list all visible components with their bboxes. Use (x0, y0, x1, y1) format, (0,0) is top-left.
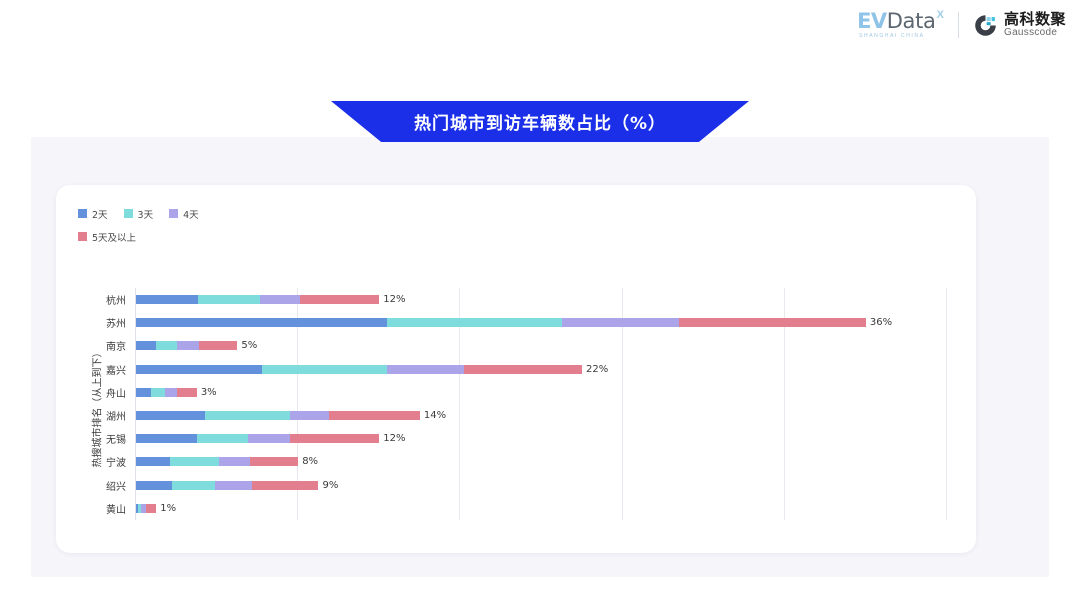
bar-segment[interactable] (387, 318, 561, 327)
bar-row[interactable]: 宁波8% (56, 450, 976, 473)
bar-segment[interactable] (136, 481, 172, 490)
evdata-tagline: SHANGHAI CHINA (859, 34, 924, 39)
bar-value-label: 36% (870, 317, 892, 328)
bar-value-label: 5% (241, 340, 257, 351)
bar-segment[interactable] (151, 388, 165, 397)
bar-row[interactable]: 嘉兴22% (56, 358, 976, 381)
bar-segment[interactable] (156, 341, 176, 350)
bar-segment[interactable] (387, 365, 464, 374)
y-axis-tick-label: 南京 (56, 338, 126, 353)
bar-segment[interactable] (290, 434, 379, 443)
legend-item-2[interactable]: 3天 (124, 207, 154, 220)
legend-swatch-icon (78, 232, 87, 241)
bar-segment[interactable] (290, 411, 329, 420)
stacked-bar[interactable] (136, 434, 379, 443)
bar-row[interactable]: 杭州12% (56, 288, 976, 311)
bar-segment[interactable] (252, 481, 319, 490)
stacked-bar[interactable] (136, 295, 379, 304)
y-axis-tick-label: 嘉兴 (56, 362, 126, 377)
legend-label: 4天 (183, 207, 199, 221)
bar-row[interactable]: 苏州36% (56, 311, 976, 334)
bar-row[interactable]: 舟山3% (56, 381, 976, 404)
page-header: EVDataX SHANGHAI CHINA 高科数聚 Gausscode (0, 0, 1080, 58)
evdata-wordmark: EVDataX (857, 11, 944, 32)
gausscode-en-label: Gausscode (1004, 28, 1066, 39)
gausscode-mark-icon (973, 13, 998, 38)
bar-row[interactable]: 黄山1% (56, 497, 976, 520)
bar-row[interactable]: 绍兴9% (56, 474, 976, 497)
legend-item-4[interactable]: 5天及以上 (78, 230, 136, 243)
bar-segment[interactable] (215, 481, 251, 490)
legend-item-3[interactable]: 4天 (169, 207, 199, 220)
bar-row[interactable]: 湖州14% (56, 404, 976, 427)
evdata-ev-text: EV (857, 11, 887, 32)
bar-segment[interactable] (136, 295, 198, 304)
legend-label: 5天及以上 (92, 230, 136, 244)
bar-value-label: 9% (322, 480, 338, 491)
bar-segment[interactable] (248, 434, 291, 443)
bar-segment[interactable] (679, 318, 866, 327)
bar-row[interactable]: 无锡12% (56, 427, 976, 450)
bar-segment[interactable] (136, 434, 197, 443)
bar-segment[interactable] (136, 457, 170, 466)
bar-segment[interactable] (177, 388, 197, 397)
legend-item-1[interactable]: 2天 (78, 207, 108, 220)
gausscode-cn-label: 高科数聚 (1004, 12, 1066, 28)
logo-divider (958, 12, 959, 38)
y-axis-tick-label: 湖州 (56, 408, 126, 423)
legend-swatch-icon (169, 209, 178, 218)
bar-segment[interactable] (262, 365, 388, 374)
legend-swatch-icon (124, 209, 133, 218)
stacked-bar[interactable] (136, 481, 318, 490)
bar-value-label: 14% (424, 410, 446, 421)
chart-bar-rows: 杭州12%苏州36%南京5%嘉兴22%舟山3%湖州14%无锡12%宁波8%绍兴9… (56, 288, 976, 520)
bar-value-label: 12% (383, 294, 405, 305)
stacked-bar[interactable] (136, 318, 866, 327)
bar-segment[interactable] (136, 365, 262, 374)
evdata-superscript-x: X (937, 10, 944, 21)
bar-segment[interactable] (464, 365, 582, 374)
bar-segment[interactable] (177, 341, 199, 350)
bar-segment[interactable] (198, 295, 260, 304)
y-axis-tick-label: 舟山 (56, 385, 126, 400)
bar-segment[interactable] (136, 318, 387, 327)
bar-segment[interactable] (136, 341, 156, 350)
y-axis-tick-label: 黄山 (56, 501, 126, 516)
bar-segment[interactable] (199, 341, 238, 350)
bar-row[interactable]: 南京5% (56, 334, 976, 357)
evdata-data-text: Data (887, 11, 936, 32)
legend-label: 3天 (138, 207, 154, 221)
legend-swatch-icon (78, 209, 87, 218)
y-axis-tick-label: 苏州 (56, 315, 126, 330)
y-axis-tick-label: 绍兴 (56, 478, 126, 493)
stacked-bar[interactable] (136, 365, 582, 374)
bar-value-label: 22% (586, 364, 608, 375)
chart-title: 热门城市到访车辆数占比（%） (331, 101, 749, 142)
bar-value-label: 8% (302, 456, 318, 467)
y-axis-tick-label: 杭州 (56, 292, 126, 307)
legend-label: 2天 (92, 207, 108, 221)
bar-value-label: 1% (160, 503, 176, 514)
logo-group: EVDataX SHANGHAI CHINA 高科数聚 Gausscode (857, 11, 1066, 39)
gausscode-logo: 高科数聚 Gausscode (973, 12, 1066, 38)
bar-segment[interactable] (165, 388, 176, 397)
bar-segment[interactable] (172, 481, 215, 490)
bar-segment[interactable] (136, 411, 205, 420)
y-axis-tick-label: 宁波 (56, 454, 126, 469)
bar-segment[interactable] (205, 411, 290, 420)
stacked-bar[interactable] (136, 341, 237, 350)
bar-segment[interactable] (197, 434, 248, 443)
chart-legend: 2天3天4天5天及以上 (78, 207, 378, 243)
gausscode-text-group: 高科数聚 Gausscode (1004, 12, 1066, 38)
y-axis-tick-label: 无锡 (56, 431, 126, 446)
stacked-bar[interactable] (136, 504, 156, 513)
bar-segment[interactable] (250, 457, 299, 466)
chart-title-banner: 热门城市到访车辆数占比（%） (331, 101, 749, 142)
bar-segment[interactable] (146, 504, 156, 513)
bar-segment[interactable] (170, 457, 219, 466)
stacked-bar[interactable] (136, 411, 420, 420)
stacked-bar[interactable] (136, 457, 298, 466)
chart-plot-area: 2天3天4天5天及以上 热搜城市排名（从上到下） 杭州12%苏州36%南京5%嘉… (56, 185, 976, 553)
bar-value-label: 12% (383, 433, 405, 444)
bar-segment[interactable] (260, 295, 301, 304)
bar-segment[interactable] (300, 295, 379, 304)
bar-segment[interactable] (562, 318, 680, 327)
stacked-bar[interactable] (136, 388, 197, 397)
bar-segment[interactable] (329, 411, 420, 420)
bar-value-label: 3% (201, 387, 217, 398)
bar-segment[interactable] (136, 388, 151, 397)
bar-segment[interactable] (219, 457, 249, 466)
evdata-logo: EVDataX SHANGHAI CHINA (857, 11, 944, 39)
chart-card: 2天3天4天5天及以上 热搜城市排名（从上到下） 杭州12%苏州36%南京5%嘉… (56, 185, 976, 553)
